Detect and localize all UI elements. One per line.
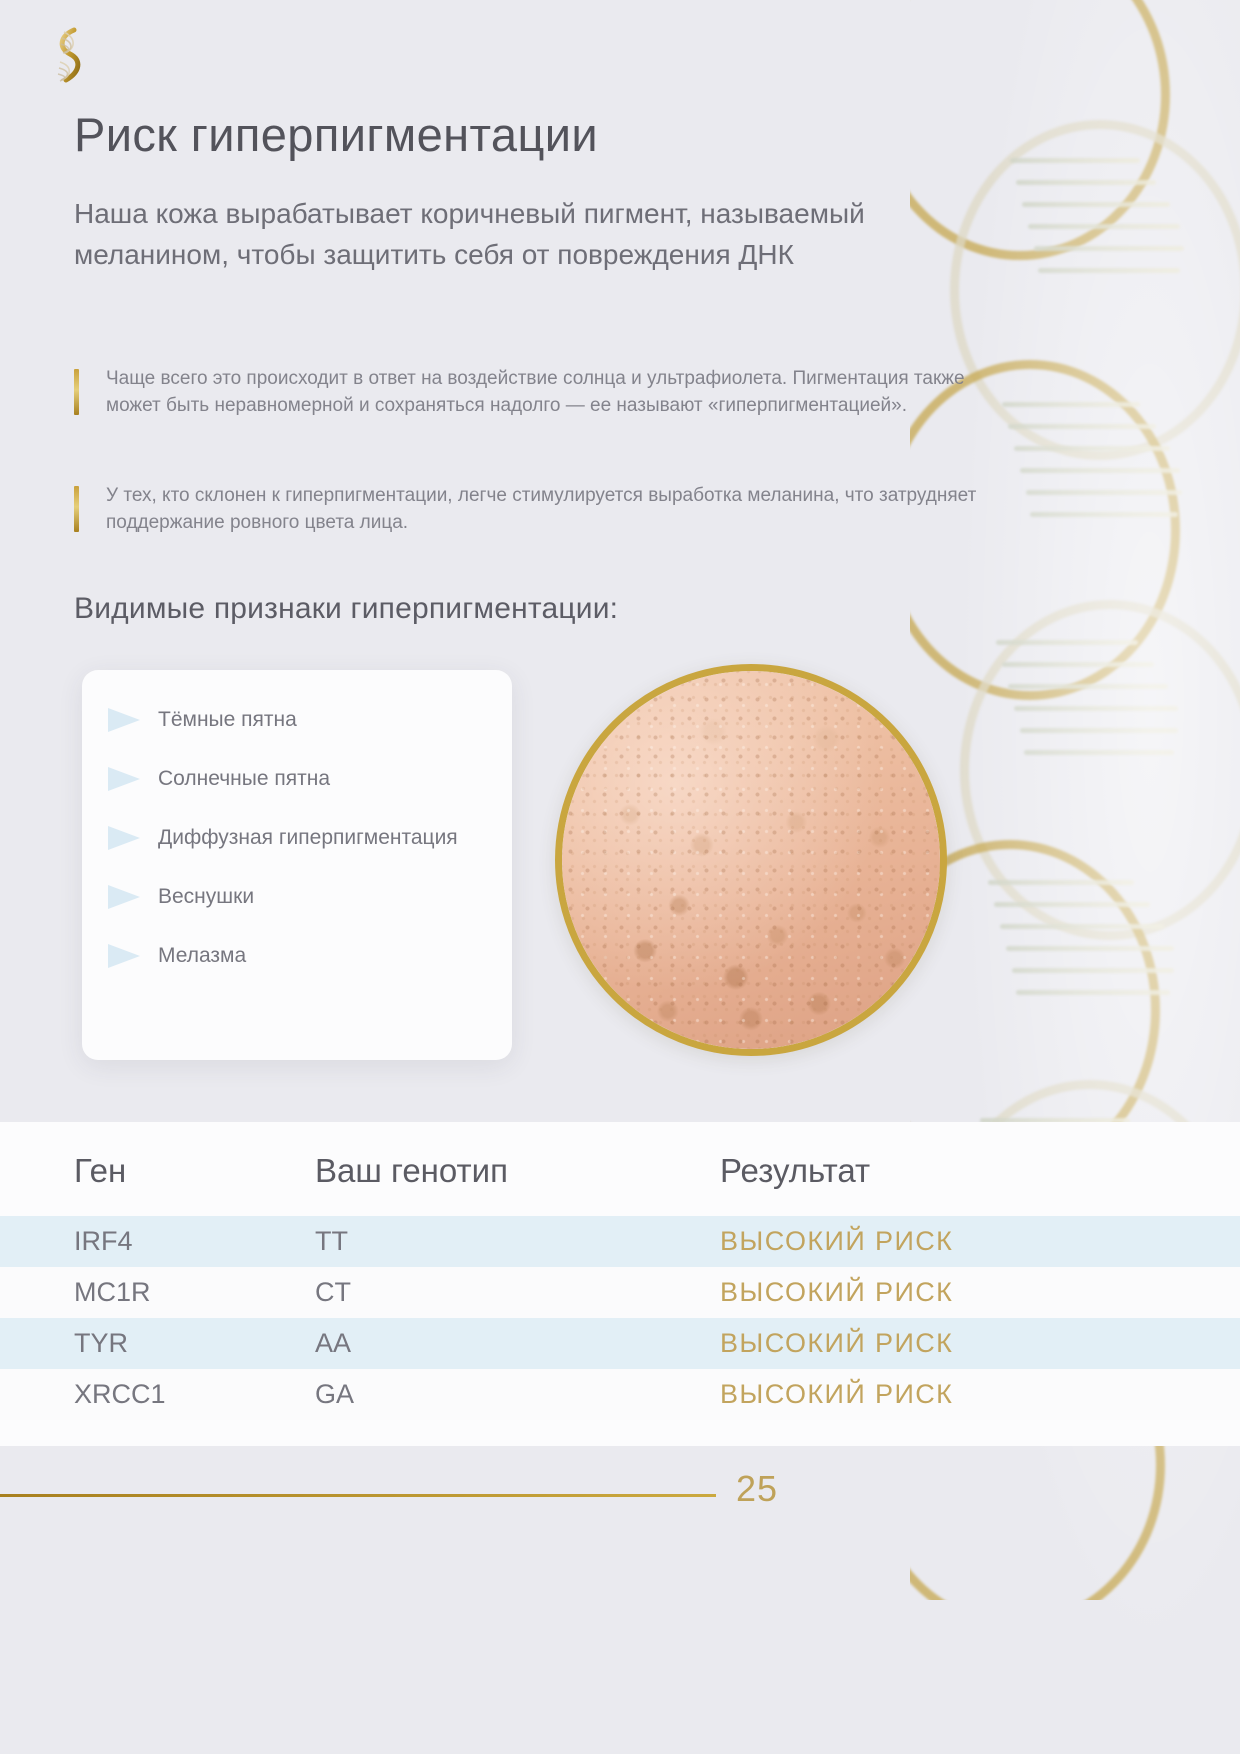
triangle-right-icon bbox=[108, 824, 142, 852]
table-row: XRCC1 GA ВЫСОКИЙ РИСК bbox=[0, 1369, 1240, 1420]
list-item: Мелазма bbox=[108, 940, 486, 971]
visible-signs-heading: Видимые признаки гиперпигментации: bbox=[74, 592, 618, 626]
list-item-label: Тёмные пятна bbox=[158, 704, 297, 735]
skin-photo-texture bbox=[562, 671, 940, 1049]
triangle-right-icon bbox=[108, 883, 142, 911]
table-row: IRF4 TT ВЫСОКИЙ РИСК bbox=[0, 1216, 1240, 1267]
cell-result: ВЫСОКИЙ РИСК bbox=[720, 1216, 1240, 1267]
page-title: Риск гиперпигментации bbox=[74, 107, 598, 162]
column-header-genotype: Ваш генотип bbox=[315, 1122, 720, 1216]
list-item: Диффузная гиперпигментация bbox=[108, 822, 486, 853]
cell-gene: XRCC1 bbox=[0, 1369, 315, 1420]
cell-gene: IRF4 bbox=[0, 1216, 315, 1267]
cell-result: ВЫСОКИЙ РИСК bbox=[720, 1267, 1240, 1318]
cell-genotype: TT bbox=[315, 1216, 720, 1267]
cell-gene: TYR bbox=[0, 1318, 315, 1369]
quote-block-1: Чаще всего это происходит в ответ на воз… bbox=[74, 365, 1004, 419]
triangle-right-icon bbox=[108, 706, 142, 734]
list-item-label: Веснушки bbox=[158, 881, 254, 912]
visible-signs-card: Тёмные пятна Солнечные пятна Диффузная г… bbox=[82, 670, 512, 1060]
triangle-right-icon bbox=[108, 942, 142, 970]
dna-helix-icon bbox=[44, 26, 94, 88]
list-item-label: Солнечные пятна bbox=[158, 763, 330, 794]
list-item: Веснушки bbox=[108, 881, 486, 912]
list-item: Тёмные пятна bbox=[108, 704, 486, 735]
page-number: 25 bbox=[736, 1468, 778, 1510]
triangle-right-icon bbox=[108, 765, 142, 793]
list-item-label: Диффузная гиперпигментация bbox=[158, 822, 458, 853]
gene-results-table: Ген Ваш генотип Результат IRF4 TT ВЫСОКИ… bbox=[0, 1122, 1240, 1446]
list-item-label: Мелазма bbox=[158, 940, 246, 971]
column-header-gene: Ген bbox=[0, 1122, 315, 1216]
list-item: Солнечные пятна bbox=[108, 763, 486, 794]
column-header-result: Результат bbox=[720, 1122, 1240, 1216]
table-header-row: Ген Ваш генотип Результат bbox=[0, 1122, 1240, 1216]
quote-block-2: У тех, кто склонен к гиперпигментации, л… bbox=[74, 482, 1004, 536]
cell-result: ВЫСОКИЙ РИСК bbox=[720, 1369, 1240, 1420]
background-haze bbox=[940, 0, 1240, 1754]
cell-genotype: GA bbox=[315, 1369, 720, 1420]
skin-hyperpigmentation-photo bbox=[555, 664, 947, 1056]
cell-genotype: CT bbox=[315, 1267, 720, 1318]
page-subtitle: Наша кожа вырабатывает коричневый пигмен… bbox=[74, 193, 954, 275]
table-row: MC1R CT ВЫСОКИЙ РИСК bbox=[0, 1267, 1240, 1318]
table-row: TYR AA ВЫСОКИЙ РИСК bbox=[0, 1318, 1240, 1369]
footer-rule bbox=[0, 1494, 716, 1497]
cell-gene: MC1R bbox=[0, 1267, 315, 1318]
cell-genotype: AA bbox=[315, 1318, 720, 1369]
cell-result: ВЫСОКИЙ РИСК bbox=[720, 1318, 1240, 1369]
